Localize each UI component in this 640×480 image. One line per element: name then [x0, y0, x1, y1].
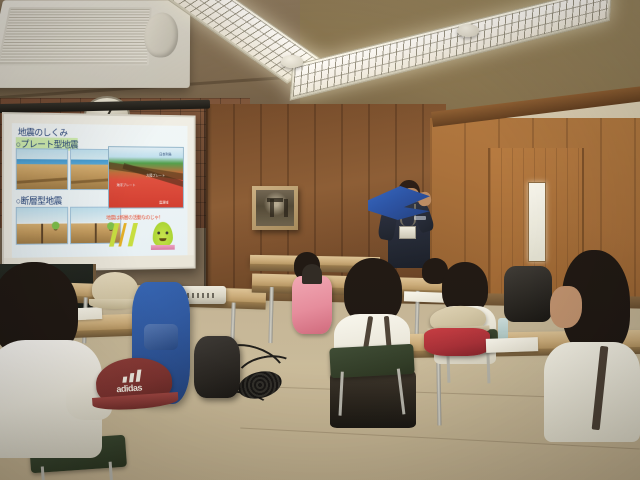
student-right — [540, 250, 640, 440]
mascot-base — [151, 245, 175, 250]
wall-corner-shadow — [204, 104, 212, 296]
slide-content: 地震のしくみ ○プレート型地震 ○断層型地震 — [12, 123, 188, 259]
fault-line — [41, 224, 43, 244]
chair-middle[interactable] — [329, 344, 414, 378]
photo-image — [256, 190, 294, 226]
bag-pink — [292, 276, 332, 334]
projection-screen: 地震のしくみ ○プレート型地震 ○断層型地震 — [2, 112, 196, 272]
earthquake-mascot-icon — [153, 222, 173, 247]
panel-land — [17, 164, 67, 189]
backpack-black — [194, 336, 240, 398]
ac-nozzle — [143, 13, 178, 58]
smoke-detector-icon — [281, 55, 303, 68]
adidas-wordmark: adidas — [116, 382, 142, 394]
cap-beige — [92, 272, 138, 306]
plate-cross-section-diagram: 日本列島 海洋プレート 大陸プレート 震源域 — [108, 146, 184, 208]
smoke-detector-icon — [457, 24, 479, 37]
fault-panel-1 — [16, 207, 68, 245]
ac-grille — [0, 7, 152, 65]
diagram-label-0: 日本列島 — [159, 151, 171, 156]
classroom-scene: 11 12 地震のしくみ ○プレート型地震 ○断層型地震 — [0, 0, 640, 480]
plate-panel-1 — [16, 148, 68, 190]
id-badge — [399, 226, 416, 239]
shock-zigzag-icon — [112, 223, 144, 249]
shirt-logo — [414, 216, 426, 220]
diagram-label-1: 海洋プレート — [116, 182, 135, 187]
framed-photo — [252, 186, 298, 230]
adidas-logo-icon — [121, 369, 144, 383]
student-middle-left — [328, 258, 428, 428]
bag-red — [424, 328, 490, 356]
papers-right — [486, 337, 538, 353]
panel-sky — [17, 208, 67, 223]
diagram-label-3: 震源域 — [159, 200, 168, 205]
fault-line — [95, 223, 97, 242]
student-face — [550, 286, 582, 328]
slide-callout: 地震は断層の活動なのじゃ！ — [106, 214, 163, 221]
slide-heading-fault: ○断層型地震 — [16, 194, 62, 207]
diagram-label-2: 大陸プレート — [146, 173, 165, 178]
tree-icon — [52, 222, 60, 230]
air-conditioner-icon — [0, 0, 190, 88]
